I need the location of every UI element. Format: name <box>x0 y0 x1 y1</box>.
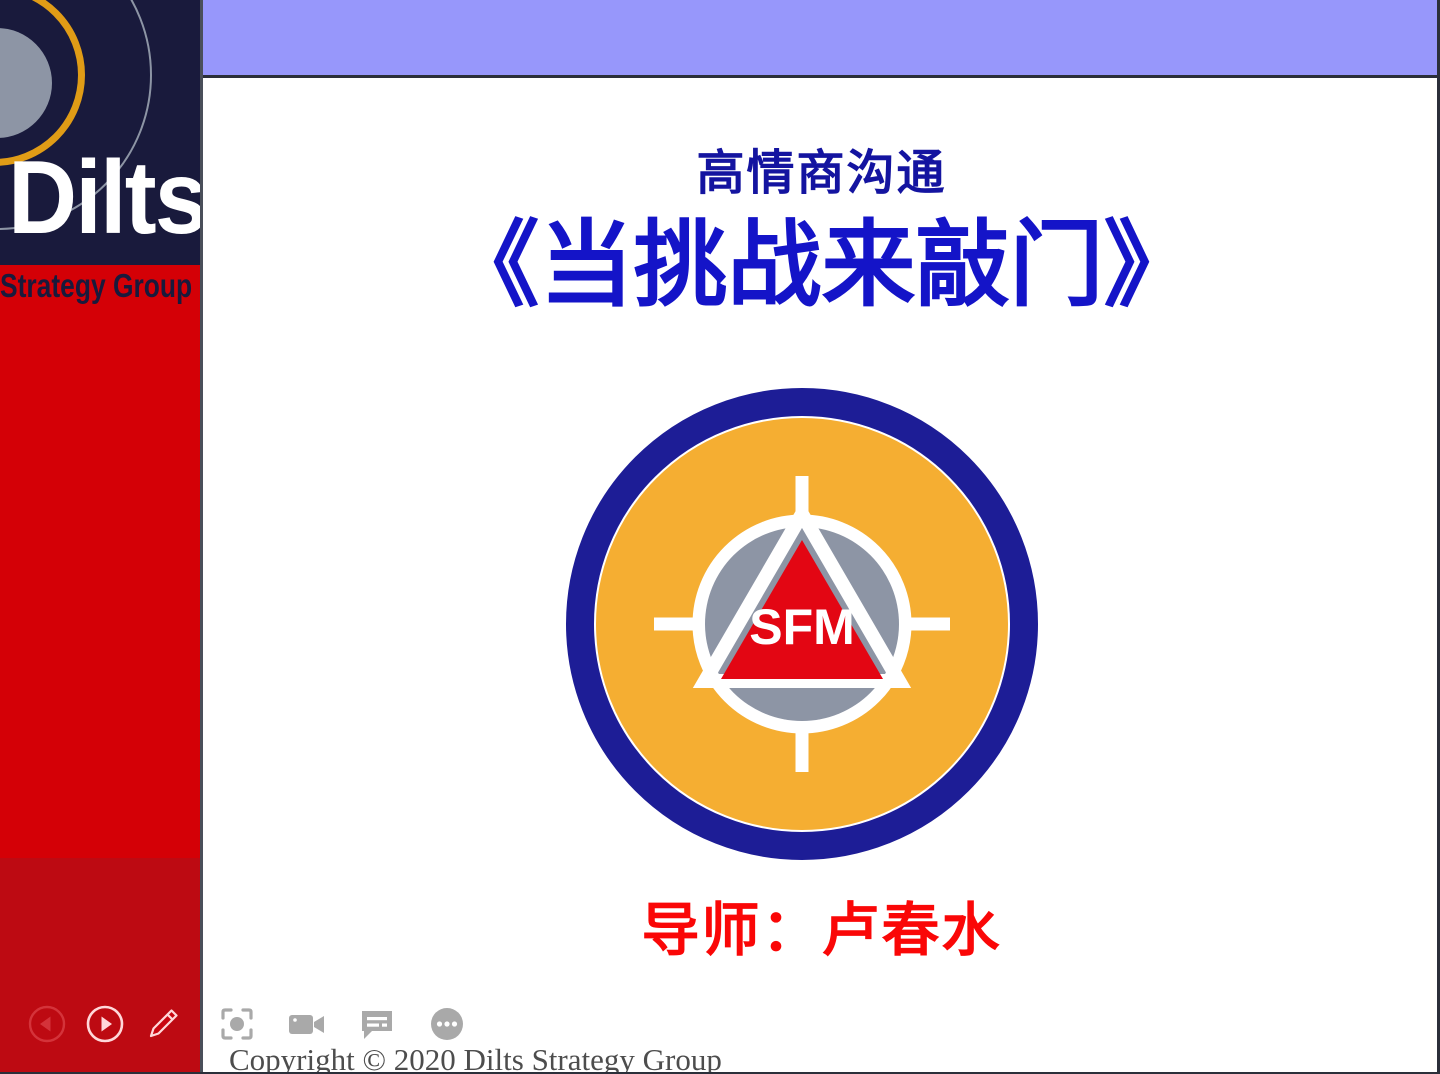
next-slide-button[interactable] <box>86 1005 124 1043</box>
video-camera-button[interactable] <box>287 1004 327 1044</box>
slide-content: 高情商沟通 《当挑战来敲门》 SFM <box>203 78 1440 1074</box>
spotlight-focus-button[interactable] <box>217 1004 257 1044</box>
pen-icon <box>144 1005 182 1043</box>
presentation-slide: Dilts Strategy Group <box>0 0 1440 1074</box>
slide-subtitle: 高情商沟通 <box>203 146 1440 202</box>
caption-bubble-icon <box>360 1008 394 1040</box>
brand-logo-block: Dilts <box>0 0 203 265</box>
brand-wordmark: Dilts <box>8 146 203 250</box>
sfm-logo: SFM <box>566 388 1038 860</box>
ellipsis-circle-icon <box>430 1007 464 1041</box>
sfm-logo-text: SFM <box>749 599 855 655</box>
copyright-text: Copyright © 2020 Dilts Strategy Group <box>229 1041 722 1074</box>
spotlight-focus-icon <box>220 1007 254 1041</box>
chevron-left-circle-icon <box>28 1005 66 1043</box>
video-camera-icon <box>288 1009 326 1039</box>
presentation-toolbar <box>217 1004 467 1044</box>
more-options-button[interactable] <box>427 1004 467 1044</box>
brand-tagline: Strategy Group <box>0 267 192 305</box>
top-accent-band <box>203 0 1440 78</box>
captions-button[interactable] <box>357 1004 397 1044</box>
presenter-line: 导师：卢春水 <box>203 898 1440 964</box>
slide-title: 《当挑战来敲门》 <box>203 212 1440 318</box>
pen-annotation-button[interactable] <box>144 1005 182 1043</box>
chevron-right-circle-icon <box>86 1005 124 1043</box>
left-sidebar: Dilts Strategy Group <box>0 0 203 1074</box>
brand-tagline-strip: Strategy Group <box>0 265 203 311</box>
title-block: 高情商沟通 《当挑战来敲门》 <box>203 78 1440 318</box>
slide-nav-controls <box>28 1005 182 1043</box>
sfm-emblem-icon: SFM <box>566 388 1038 860</box>
previous-slide-button[interactable] <box>28 1005 66 1043</box>
